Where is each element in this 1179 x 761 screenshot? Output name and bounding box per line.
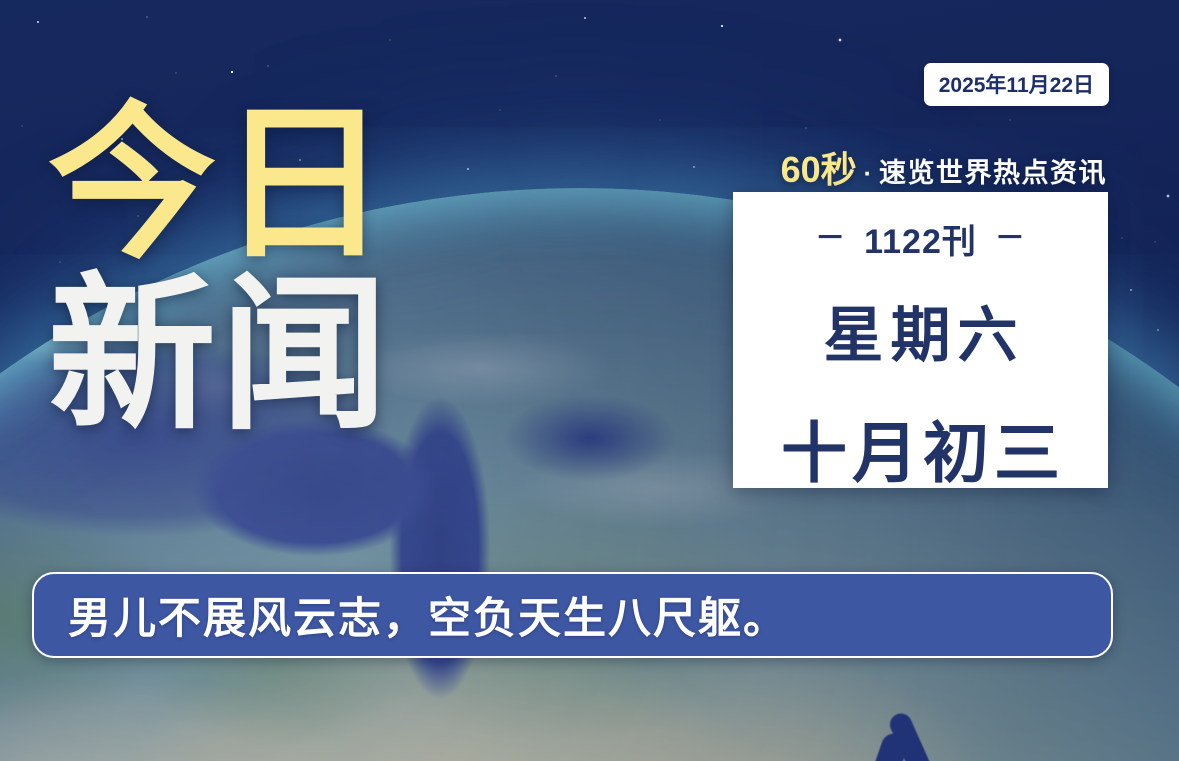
tagline-seconds: 60秒 xyxy=(781,141,857,193)
issue-row: － 1122刊 － xyxy=(815,214,1026,263)
quote-text: 男儿不展风云志，空负天生八尺躯。 xyxy=(68,584,788,646)
issue-dash-right: － xyxy=(995,224,1026,254)
info-card: － 1122刊 － 星期六 十月初三 xyxy=(733,192,1108,488)
issue-number: 1122刊 xyxy=(864,214,977,263)
tagline-text: 速览世界热点资讯 xyxy=(879,151,1107,190)
tagline-separator: · xyxy=(863,160,873,189)
lunar-date-label: 十月初三 xyxy=(776,400,1065,496)
tagline: 60秒 · 速览世界热点资讯 xyxy=(781,141,1107,193)
page-title: 今日 新闻 xyxy=(48,102,392,437)
quote-bar: 男儿不展风云志，空负天生八尺躯。 xyxy=(32,572,1113,658)
news-poster: aaacn 今日 新闻 2025年11月22日 60秒 · 速览世界热点资讯 －… xyxy=(0,0,1179,761)
issue-dash-left: － xyxy=(815,224,846,254)
title-line-xinwen: 新闻 xyxy=(48,273,392,438)
date-badge: 2025年11月22日 xyxy=(924,63,1109,106)
weekday-label: 星期六 xyxy=(817,287,1025,374)
title-line-jinri: 今日 xyxy=(48,102,392,267)
